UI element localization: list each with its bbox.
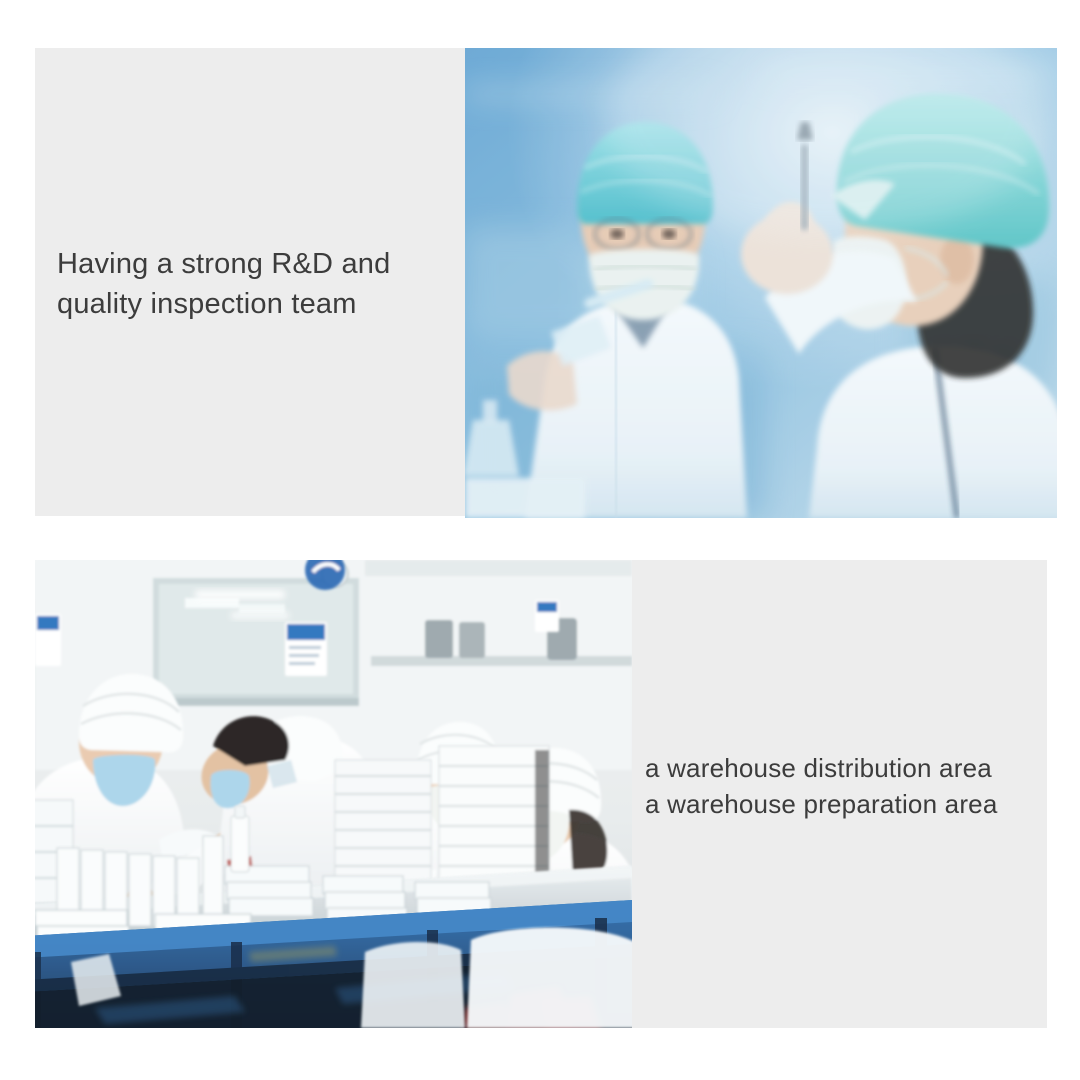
warehouse-packing-illustration [35,560,632,1028]
top-caption-text: Having a strong R&D and quality inspecti… [57,244,477,324]
lab-inspection-photo [465,48,1057,518]
warehouse-packing-photo [35,560,632,1028]
bottom-section: a warehouse distribution area a warehous… [35,560,1047,1028]
top-section: Having a strong R&D and quality inspecti… [35,48,1057,518]
lab-inspection-illustration [465,48,1057,518]
poster-canvas: Having a strong R&D and quality inspecti… [0,0,1080,1080]
bottom-caption-text: a warehouse distribution area a warehous… [645,750,1045,822]
